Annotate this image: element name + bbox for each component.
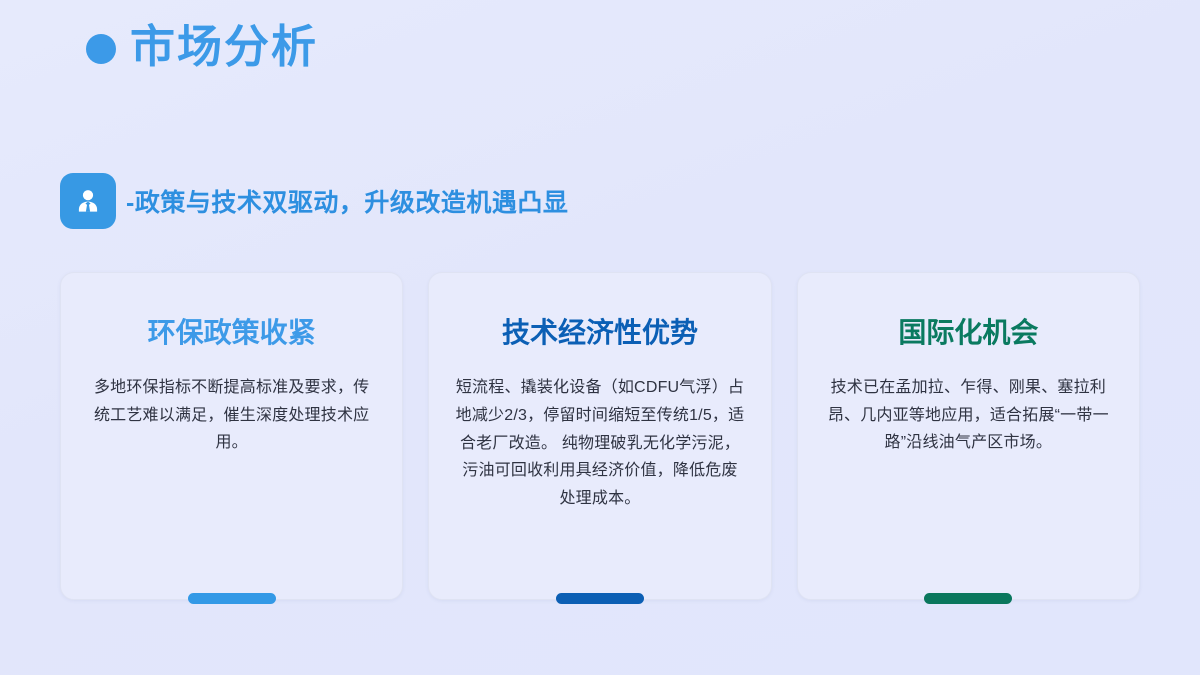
card-internationalization-opportunity[interactable]: 国际化机会 技术已在孟加拉、乍得、刚果、塞拉利昂、几内亚等地应用，适合拓展“一带…	[797, 272, 1140, 600]
page-title: 市场分析	[130, 22, 318, 72]
business-person-icon	[60, 173, 116, 229]
card-group: 环保政策收紧 多地环保指标不断提高标准及要求，传统工艺难以满足，催生深度处理技术…	[60, 272, 1140, 600]
card-title: 环保政策收紧	[148, 315, 316, 350]
filled-circle-icon	[86, 34, 116, 64]
slide-header: 市场分析	[86, 22, 318, 72]
card-accent-bar	[924, 593, 1012, 604]
card-body: 短流程、撬装化设备（如CDFU气浮）占地减少2/3，停留时间缩短至传统1/5，适…	[455, 374, 744, 513]
card-techno-economic-advantage[interactable]: 技术经济性优势 短流程、撬装化设备（如CDFU气浮）占地减少2/3，停留时间缩短…	[428, 272, 771, 600]
card-body: 多地环保指标不断提高标准及要求，传统工艺难以满足，催生深度处理技术应用。	[87, 374, 376, 457]
subtitle-row: -政策与技术双驱动，升级改造机遇凸显	[60, 173, 568, 229]
slide-canvas: 市场分析 -政策与技术双驱动，升级改造机遇凸显 环保政策收紧 多地环保指标不断提…	[0, 0, 1200, 675]
card-accent-bar	[188, 593, 276, 604]
card-title: 技术经济性优势	[502, 315, 698, 350]
card-accent-bar	[556, 593, 644, 604]
card-title: 国际化机会	[898, 315, 1038, 350]
subtitle-text: -政策与技术双驱动，升级改造机遇凸显	[126, 183, 568, 219]
card-environmental-policy[interactable]: 环保政策收紧 多地环保指标不断提高标准及要求，传统工艺难以满足，催生深度处理技术…	[60, 272, 403, 600]
card-body: 技术已在孟加拉、乍得、刚果、塞拉利昂、几内亚等地应用，适合拓展“一带一路”沿线油…	[824, 374, 1113, 457]
